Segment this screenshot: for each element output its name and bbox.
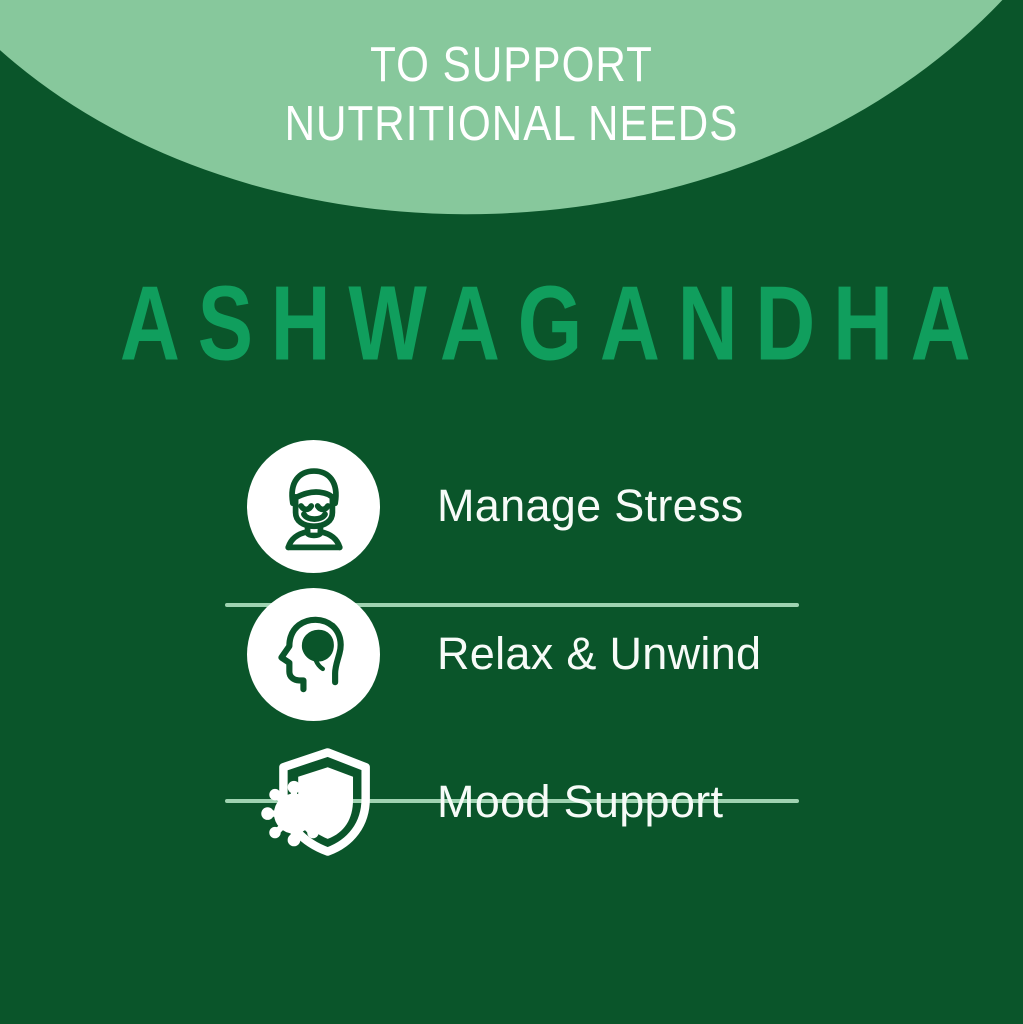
benefit-row-relax-unwind: Relax & Unwind (0, 580, 1023, 728)
product-name: ASHWAGANDHA (102, 271, 920, 377)
benefits-list: Manage Stress (0, 432, 1023, 876)
benefit-icon-wrap-2 (245, 580, 382, 728)
icon-circle-1 (247, 440, 380, 573)
benefit-label-manage-stress: Manage Stress (437, 481, 744, 531)
benefit-label-relax-unwind: Relax & Unwind (437, 629, 761, 679)
benefit-row-mood-support: Mood Support (0, 728, 1023, 876)
icon-bare-3 (247, 736, 380, 869)
header-headline-line-2: NUTRITIONAL NEEDS (72, 95, 952, 154)
head-brain-profile-icon (270, 610, 358, 698)
benefit-label-mood-support: Mood Support (437, 777, 723, 827)
icon-circle-2 (247, 588, 380, 721)
benefit-icon-wrap-3 (245, 728, 382, 876)
benefit-icon-wrap-1 (245, 432, 382, 580)
benefit-row-manage-stress: Manage Stress (0, 432, 1023, 580)
relaxed-face-person-icon (268, 460, 360, 552)
header-headline-line-1: TO SUPPORT (72, 36, 952, 95)
ashwagandha-benefits-poster: TO SUPPORT NUTRITIONAL NEEDS ASHWAGANDHA (0, 0, 1023, 1024)
header-headline: TO SUPPORT NUTRITIONAL NEEDS (72, 36, 952, 154)
shield-virus-protection-icon (256, 744, 372, 860)
